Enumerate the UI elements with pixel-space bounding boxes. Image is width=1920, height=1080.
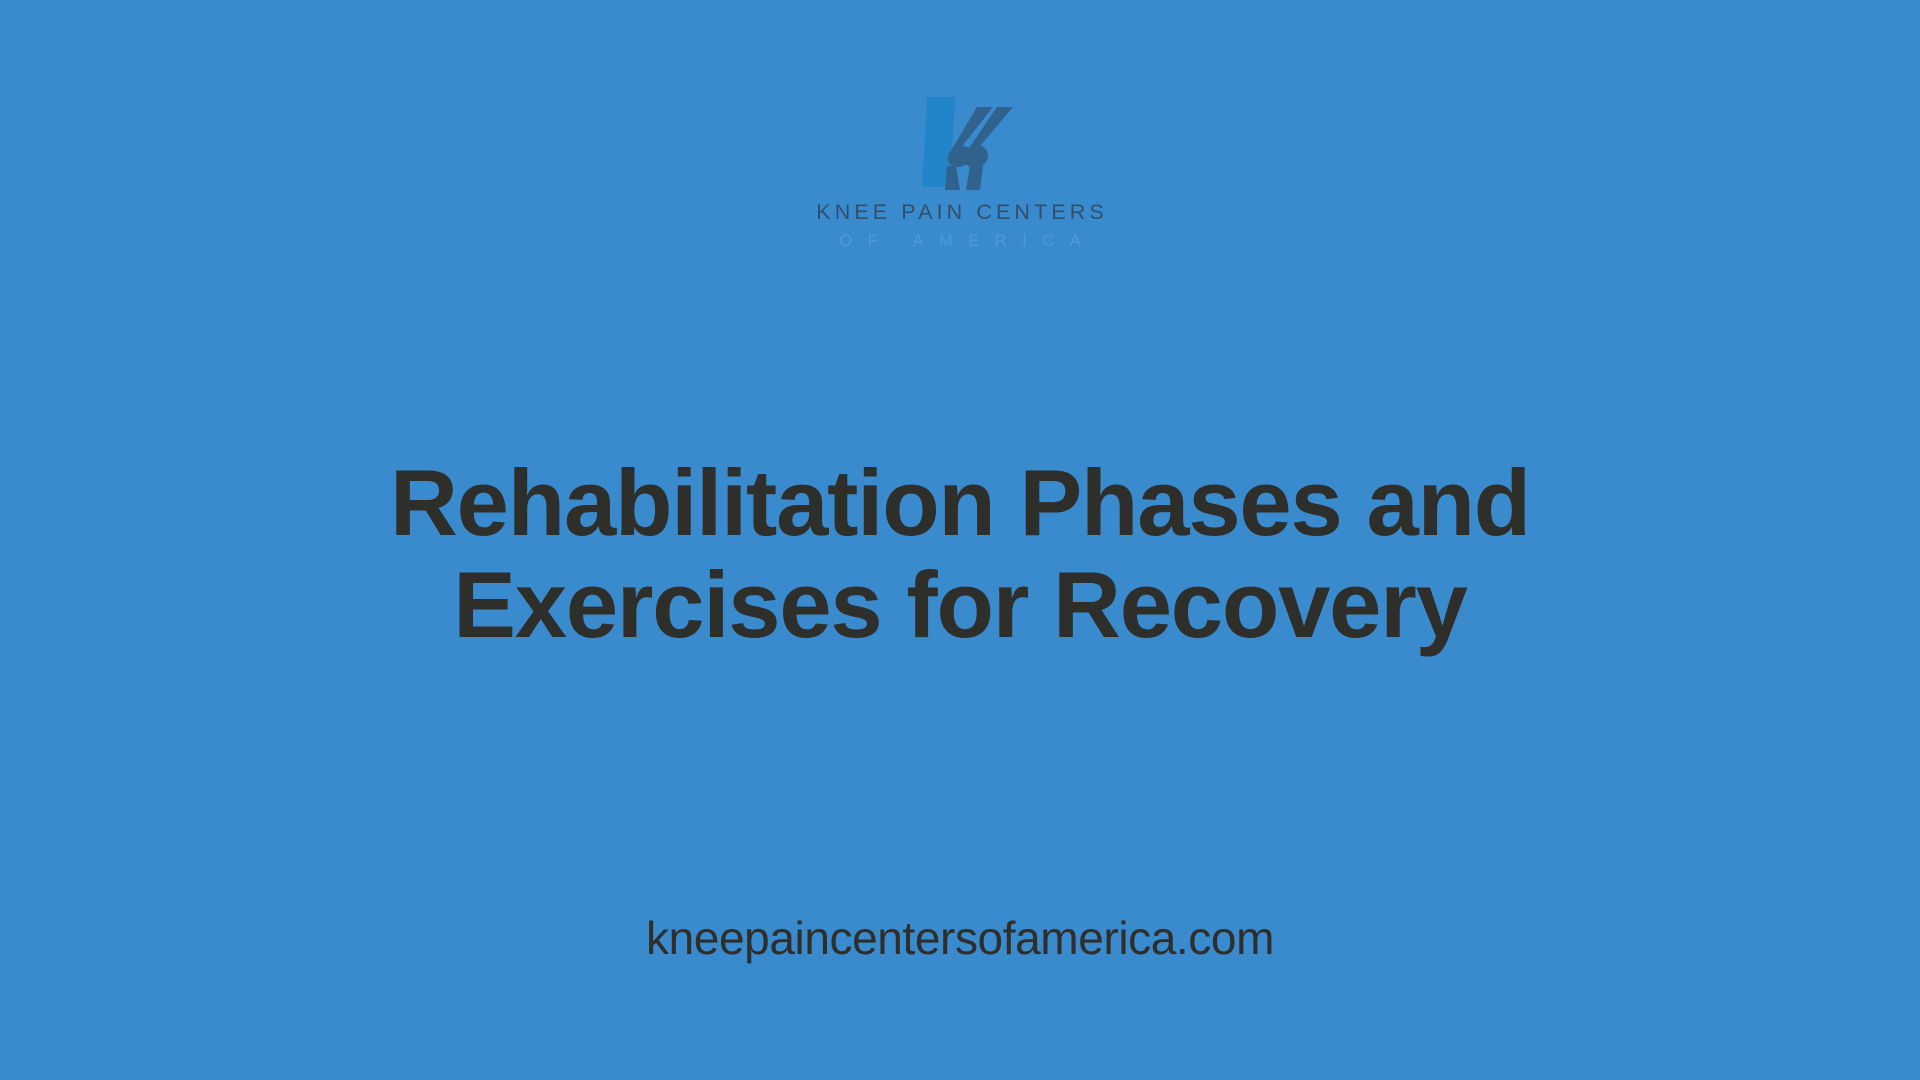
brand-wordmark: KNEE PAIN CENTERS (812, 202, 1108, 224)
page-title-line-1: Rehabilitation Phases and (390, 450, 1530, 555)
page-title-line-2: Exercises for Recovery (453, 552, 1466, 657)
page-title: Rehabilitation Phases and Exercises for … (250, 452, 1670, 657)
brand-logo: KNEE PAIN CENTERS OF AMERICA (0, 86, 1920, 249)
knee-joint-k-logo-icon (900, 86, 1020, 198)
website-url[interactable]: kneepaincentersofamerica.com (260, 913, 1660, 964)
title-slide: KNEE PAIN CENTERS OF AMERICA Rehabilitat… (0, 0, 1920, 1080)
brand-tagline: OF AMERICA (824, 233, 1096, 250)
